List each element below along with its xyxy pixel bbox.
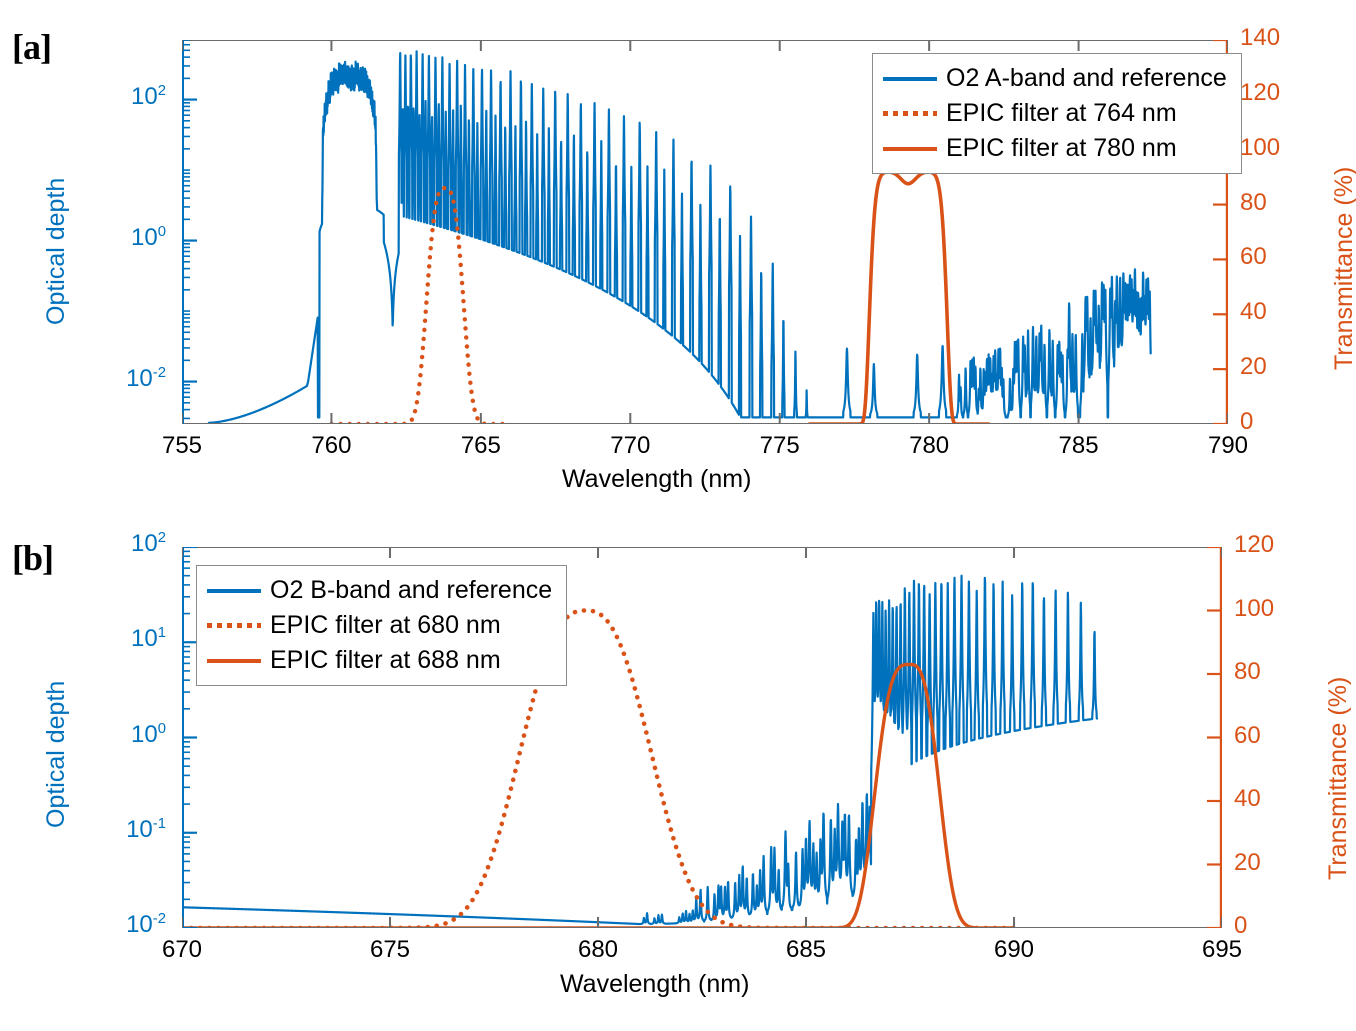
legend-solid-line-icon	[883, 71, 937, 87]
legend-solid-line-icon	[207, 583, 261, 599]
legend-item[interactable]: EPIC filter at 688 nm	[207, 643, 552, 678]
panel-b-y-left-axis-title: Optical depth	[42, 681, 71, 828]
panel-b-bottom-tick-label: 670	[127, 936, 237, 964]
panel-b-right-tick-label: 40	[1234, 785, 1261, 813]
panel-a: [a] 10210010-2 020406080100120140 755760…	[0, 0, 1356, 515]
panel-a-bottom-tick-label: 780	[874, 432, 984, 460]
panel-a-y-left-axis-title: Optical depth	[42, 178, 71, 325]
legend-solid-line-icon	[883, 141, 937, 157]
legend-item[interactable]: EPIC filter at 780 nm	[883, 131, 1227, 166]
panel-b-bottom-tick-label: 690	[959, 936, 1069, 964]
panel-a-bottom-tick-label: 790	[1173, 432, 1283, 460]
panel-b-left-tick-label: 100	[58, 721, 166, 749]
legend-dotted-line-icon	[883, 106, 937, 122]
panel-b-tag: [b]	[12, 537, 53, 579]
panel-a-left-tick-label: 102	[58, 83, 166, 111]
panel-a-left-tick-label: 10-2	[58, 365, 166, 393]
panel-a-right-tick-label: 60	[1240, 243, 1267, 271]
legend-item-label: EPIC filter at 680 nm	[270, 613, 501, 638]
panel-b-bottom-tick-label: 675	[335, 936, 445, 964]
panel-b-left-tick-label: 10-2	[58, 911, 166, 939]
legend-dotted-line-icon	[207, 618, 261, 634]
legend-item[interactable]: EPIC filter at 680 nm	[207, 608, 552, 643]
panel-b-right-tick-label: 20	[1234, 849, 1261, 877]
legend-item-label: EPIC filter at 780 nm	[946, 136, 1177, 161]
panel-b-right-tick-label: 100	[1234, 595, 1274, 623]
panel-a-bottom-tick-label: 760	[276, 432, 386, 460]
legend-item[interactable]: O2 B-band and reference	[207, 573, 552, 608]
panel-a-bottom-tick-label: 770	[575, 432, 685, 460]
panel-a-right-tick-label: 80	[1240, 189, 1267, 217]
panel-b-left-tick-label: 101	[58, 625, 166, 653]
panel-a-y-right-axis-title: Transmittance (%)	[1330, 167, 1356, 370]
panel-b-bottom-tick-label: 695	[1167, 936, 1277, 964]
panel-b-right-tick-label: 120	[1234, 531, 1274, 559]
panel-a-tag: [a]	[12, 26, 51, 68]
panel-b-right-tick-label: 80	[1234, 658, 1261, 686]
panel-a-bottom-tick-label: 775	[725, 432, 835, 460]
panel-a-left-tick-label: 100	[58, 224, 166, 252]
panel-b-bottom-tick-label: 680	[543, 936, 653, 964]
legend-item[interactable]: O2 A-band and reference	[883, 61, 1227, 96]
panel-a-bottom-tick-label: 765	[426, 432, 536, 460]
legend-item[interactable]: EPIC filter at 764 nm	[883, 96, 1227, 131]
panel-b-y-right-axis-title: Transmittance (%)	[1324, 677, 1353, 880]
panel-b-right-tick-label: 60	[1234, 722, 1261, 750]
panel-a-legend: O2 A-band and referenceEPIC filter at 76…	[872, 53, 1242, 174]
panel-b-legend: O2 B-band and referenceEPIC filter at 68…	[196, 565, 567, 686]
legend-solid-line-icon	[207, 653, 261, 669]
panel-b-x-axis-title: Wavelength (nm)	[560, 970, 749, 999]
panel-a-right-tick-label: 40	[1240, 298, 1267, 326]
legend-item-label: EPIC filter at 688 nm	[270, 648, 501, 673]
panel-a-bottom-tick-label: 785	[1024, 432, 1134, 460]
panel-a-right-tick-label: 100	[1240, 134, 1280, 162]
epic-filter-780nm-line	[810, 172, 989, 424]
panel-a-x-axis-title: Wavelength (nm)	[562, 465, 751, 494]
panel-b-left-tick-label: 10-1	[58, 816, 166, 844]
panel-a-bottom-tick-label: 755	[127, 432, 237, 460]
panel-b-left-tick-label: 102	[58, 530, 166, 558]
legend-item-label: O2 B-band and reference	[270, 578, 552, 603]
legend-item-label: O2 A-band and reference	[946, 66, 1227, 91]
panel-a-right-tick-label: 140	[1240, 24, 1280, 52]
legend-item-label: EPIC filter at 764 nm	[946, 101, 1177, 126]
panel-b-bottom-tick-label: 685	[751, 936, 861, 964]
panel-a-right-tick-label: 120	[1240, 79, 1280, 107]
panel-a-right-tick-label: 20	[1240, 353, 1267, 381]
